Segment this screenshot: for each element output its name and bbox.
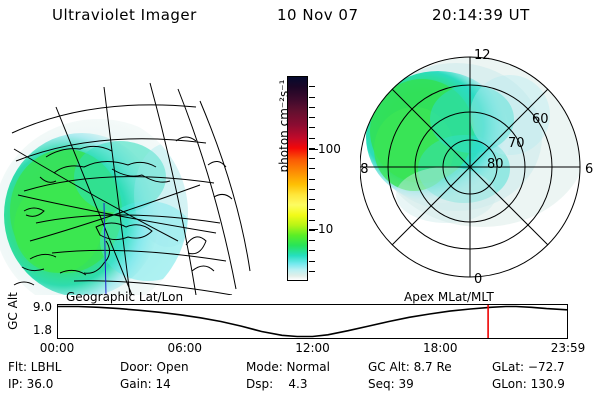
time-tick-0000: 00:00 (40, 341, 75, 355)
colorbar-tick-label-100: 100 (318, 142, 341, 156)
time-tick-1200: 12:00 (295, 341, 330, 355)
geographic-panel-title: Geographic Lat/Lon (66, 290, 183, 304)
mlat-label-80: 80 (487, 157, 504, 172)
mlat-label-60: 60 (532, 112, 549, 127)
colorbar-minor-tick (309, 138, 315, 139)
observation-time: 20:14:39 UT (432, 6, 530, 24)
colorbar-minor-tick (309, 107, 315, 108)
mlat-label-70: 70 (508, 136, 525, 151)
aurora-emission-region (0, 119, 202, 295)
colorbar-minor-tick (309, 117, 315, 118)
status-flt: Flt: LBHL (8, 360, 61, 374)
status-gain: Gain: 14 (120, 377, 171, 391)
colorbar-minor-tick (309, 158, 315, 159)
altitude-curve-svg (58, 305, 567, 338)
colorbar-minor-tick (309, 127, 315, 128)
colorbar-minor-tick (309, 86, 315, 87)
colorbar-minor-tick (309, 179, 315, 180)
header-bar: Ultraviolet Imager 10 Nov 07 20:14:39 UT (0, 6, 600, 28)
status-seq: Seq: 39 (368, 377, 414, 391)
geographic-plot-svg (0, 45, 252, 295)
mlt-label-6: 6 (585, 162, 593, 177)
altitude-ytick-min: 1.8 (22, 323, 52, 337)
geographic-image-panel[interactable] (0, 45, 252, 295)
polar-mlat-mlt-panel[interactable]: 12 18 6 0 60 70 80 (360, 45, 600, 295)
status-glon: GLon: 130.9 (492, 377, 565, 391)
time-tick-1800: 18:00 (423, 341, 458, 355)
status-dsp: Dsp: 4.3 (246, 377, 308, 391)
polar-plot-svg: 12 18 6 0 60 70 80 (360, 45, 600, 295)
colorbar-minor-tick (309, 240, 315, 241)
mlt-label-0: 0 (474, 272, 482, 287)
spacecraft-altitude-curve (58, 307, 567, 337)
colorbar-minor-tick (309, 209, 315, 210)
observation-date: 10 Nov 07 (277, 6, 359, 24)
mlt-label-18: 18 (360, 162, 369, 177)
instrument-title: Ultraviolet Imager (52, 6, 197, 24)
colorbar-major-tick-10 (309, 229, 318, 231)
status-mode: Mode: Normal (246, 360, 330, 374)
time-tick-0600: 06:00 (167, 341, 202, 355)
status-ip: IP: 36.0 (8, 377, 53, 391)
altitude-plot-box[interactable] (57, 304, 568, 339)
colorbar-minor-tick (309, 199, 315, 200)
status-glat: GLat: −72.7 (492, 360, 565, 374)
status-door: Door: Open (120, 360, 189, 374)
colorbar-minor-tick (309, 271, 315, 272)
colorbar-minor-tick (309, 189, 315, 190)
colorbar-minor-tick (309, 220, 315, 221)
colorbar-tick-label-10: 10 (318, 222, 333, 236)
mlt-spokes (360, 57, 580, 277)
status-gc-alt: GC Alt: 8.7 Re (368, 360, 452, 374)
altitude-axis-label: GC Alt (4, 290, 20, 340)
colorbar-panel[interactable]: photon cm⁻²s⁻¹ 10010 (256, 45, 360, 295)
polar-panel-title: Apex MLat/MLT (404, 290, 494, 304)
colorbar-minor-tick (309, 168, 315, 169)
altitude-ytick-max: 9.0 (22, 300, 52, 314)
mlt-label-12: 12 (474, 48, 491, 63)
colorbar-scale[interactable] (287, 76, 308, 281)
colorbar-minor-tick (309, 97, 315, 98)
status-footer: Flt: LBHL Door: Open Mode: Normal GC Alt… (0, 360, 600, 400)
colorbar-minor-tick (309, 250, 315, 251)
colorbar-minor-tick (309, 261, 315, 262)
time-tick-2359: 23:59 (551, 341, 586, 355)
colorbar-gradient (288, 77, 307, 280)
colorbar-major-tick-100 (309, 149, 318, 151)
altitude-timeline-panel[interactable]: Geographic Lat/Lon Apex MLat/MLT GC Alt … (0, 290, 600, 352)
